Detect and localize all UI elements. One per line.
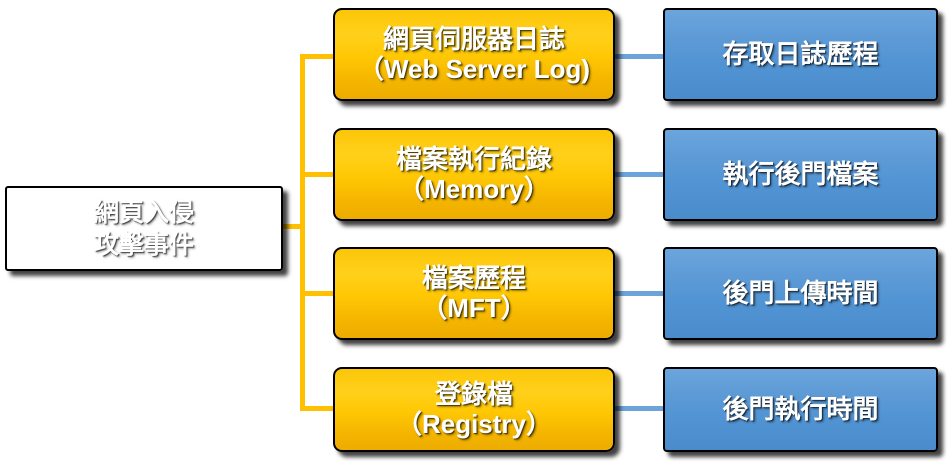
- connector-branch-row3: [300, 291, 335, 296]
- connector-leaf-row2: [612, 172, 668, 177]
- evidence-node-line-2: （Memory）: [398, 175, 550, 204]
- finding-node-line-1: 後門執行時間: [722, 395, 878, 424]
- evidence-node-mft[interactable]: 檔案歷程 （MFT）: [333, 247, 615, 340]
- finding-node-backdoor-upload-time[interactable]: 後門上傳時間: [663, 247, 938, 340]
- connector-leaf-row3: [612, 291, 668, 296]
- diagram-canvas: 網頁入侵 攻擊事件 網頁伺服器日誌 （Web Server Log) 檔案執行紀…: [0, 0, 947, 465]
- connector-branch-row1: [300, 54, 335, 59]
- connector-trunk-vertical: [300, 54, 305, 410]
- finding-node-line-1: 存取日誌歷程: [722, 40, 878, 69]
- finding-node-backdoor-execution-time[interactable]: 後門執行時間: [663, 367, 938, 452]
- finding-node-access-log-history[interactable]: 存取日誌歷程: [663, 8, 938, 101]
- finding-node-backdoor-execution-file[interactable]: 執行後門檔案: [663, 128, 938, 221]
- evidence-node-web-server-log[interactable]: 網頁伺服器日誌 （Web Server Log): [333, 8, 615, 101]
- connector-branch-row4: [300, 406, 335, 411]
- evidence-node-line-2: （Registry）: [396, 410, 552, 439]
- evidence-node-registry[interactable]: 登錄檔 （Registry）: [333, 367, 615, 452]
- connector-branch-row2: [300, 172, 335, 177]
- finding-node-line-1: 後門上傳時間: [722, 279, 878, 308]
- evidence-node-line-2: （Web Server Log): [358, 55, 590, 84]
- root-node-line-2: 攻擊事件: [94, 229, 194, 261]
- root-node-line-1: 網頁入侵: [94, 197, 194, 229]
- evidence-node-line-1: 登錄檔: [435, 380, 513, 409]
- root-node-web-intrusion-incident[interactable]: 網頁入侵 攻擊事件: [5, 186, 283, 271]
- connector-leaf-row1: [612, 54, 668, 59]
- evidence-node-line-1: 檔案執行紀錄: [396, 145, 552, 174]
- connector-leaf-row4: [612, 406, 668, 411]
- finding-node-line-1: 執行後門檔案: [722, 160, 878, 189]
- evidence-node-line-1: 網頁伺服器日誌: [383, 25, 565, 54]
- evidence-node-line-1: 檔案歷程: [422, 264, 526, 293]
- evidence-node-memory[interactable]: 檔案執行紀錄 （Memory）: [333, 128, 615, 221]
- evidence-node-line-2: （MFT）: [421, 294, 526, 323]
